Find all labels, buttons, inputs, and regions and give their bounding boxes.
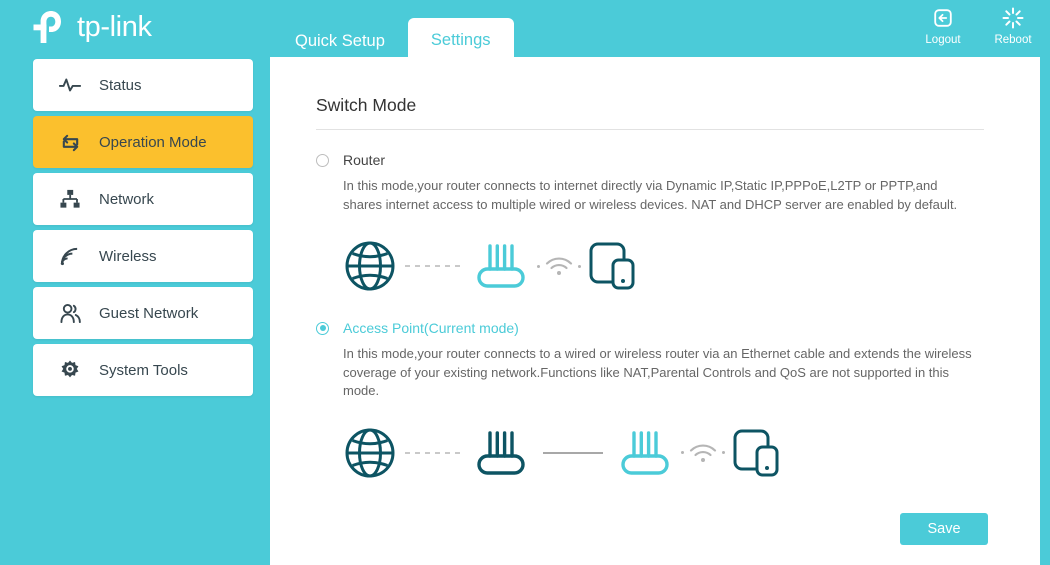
swap-arrows-icon bbox=[59, 132, 89, 153]
wifi-icon bbox=[688, 442, 718, 464]
sidebar-label-system-tools: System Tools bbox=[99, 362, 188, 379]
network-tree-icon bbox=[59, 189, 89, 209]
wifi-dot-right bbox=[722, 451, 725, 454]
logout-label: Logout bbox=[925, 34, 960, 46]
users-icon bbox=[59, 303, 89, 324]
devices-icon bbox=[731, 425, 783, 481]
wifi-dot-right bbox=[578, 265, 581, 268]
mode-label-router: Router bbox=[343, 152, 385, 168]
sidebar-item-operation-mode[interactable]: Operation Mode bbox=[33, 116, 253, 168]
sidebar-label-operation-mode: Operation Mode bbox=[99, 134, 207, 151]
router-admin-page: tp-link Quick Setup Settings Logout bbox=[0, 0, 1050, 565]
save-button[interactable]: Save bbox=[900, 513, 988, 545]
router-active-icon bbox=[615, 425, 675, 481]
sidebar-item-status[interactable]: Status bbox=[33, 59, 253, 111]
wifi-dot-left bbox=[537, 265, 540, 268]
router-dark-icon bbox=[471, 425, 531, 481]
pulse-icon bbox=[59, 75, 89, 95]
footer-actions: Save bbox=[316, 513, 988, 545]
wireless-signal-icon bbox=[59, 246, 89, 267]
globe-icon bbox=[343, 239, 397, 293]
radio-router[interactable] bbox=[316, 154, 329, 167]
main-content: Switch Mode Router In this mode,your rou… bbox=[270, 57, 1040, 565]
wifi-link-2 bbox=[681, 442, 725, 464]
radio-row-router[interactable]: Router bbox=[316, 152, 988, 168]
sidebar-label-wireless: Wireless bbox=[99, 248, 157, 265]
reboot-button[interactable]: Reboot bbox=[990, 5, 1036, 48]
mode-description-access-point: In this mode,your router connects to a w… bbox=[343, 345, 973, 401]
sidebar-item-wireless[interactable]: Wireless bbox=[33, 230, 253, 282]
sidebar-item-guest-network[interactable]: Guest Network bbox=[33, 287, 253, 339]
sidebar-item-network[interactable]: Network bbox=[33, 173, 253, 225]
dotted-link-internet bbox=[405, 452, 463, 454]
globe-icon bbox=[343, 426, 397, 480]
wifi-icon bbox=[544, 255, 574, 277]
page-header: tp-link Quick Setup Settings Logout bbox=[0, 0, 1050, 57]
sidebar-label-guest-network: Guest Network bbox=[99, 305, 198, 322]
mode-option-access-point: Access Point(Current mode) In this mode,… bbox=[316, 298, 988, 485]
devices-icon bbox=[587, 238, 639, 294]
diagram-access-point-mode bbox=[343, 421, 988, 485]
wifi-dot-left bbox=[681, 451, 684, 454]
sidebar-label-network: Network bbox=[99, 191, 154, 208]
page-title: Switch Mode bbox=[316, 57, 988, 129]
top-tabs: Quick Setup Settings bbox=[272, 0, 514, 63]
brand-logo: tp-link bbox=[31, 6, 152, 48]
header-actions: Logout Reboot bbox=[920, 5, 1036, 48]
radio-row-access-point[interactable]: Access Point(Current mode) bbox=[316, 320, 988, 336]
sidebar-label-status: Status bbox=[99, 77, 142, 94]
radio-access-point[interactable] bbox=[316, 322, 329, 335]
mode-label-access-point: Access Point(Current mode) bbox=[343, 320, 519, 336]
mode-option-router: Router In this mode,your router connects… bbox=[316, 130, 988, 298]
reboot-icon bbox=[990, 5, 1036, 30]
mode-description-router: In this mode,your router connects to int… bbox=[343, 177, 973, 214]
logout-icon bbox=[920, 5, 966, 30]
tp-link-logo-icon bbox=[31, 7, 71, 47]
sidebar: Status Operation Mode bbox=[0, 57, 270, 565]
gear-icon bbox=[59, 359, 89, 381]
dotted-link-internet bbox=[405, 265, 463, 267]
wifi-link-1 bbox=[537, 255, 581, 277]
reboot-label: Reboot bbox=[994, 34, 1031, 46]
router-active-icon bbox=[471, 238, 531, 294]
ethernet-cable-link bbox=[543, 452, 603, 454]
sidebar-menu: Status Operation Mode bbox=[33, 59, 253, 401]
brand-name: tp-link bbox=[77, 11, 152, 44]
diagram-router-mode bbox=[343, 234, 988, 298]
logout-button[interactable]: Logout bbox=[920, 5, 966, 48]
sidebar-item-system-tools[interactable]: System Tools bbox=[33, 344, 253, 396]
